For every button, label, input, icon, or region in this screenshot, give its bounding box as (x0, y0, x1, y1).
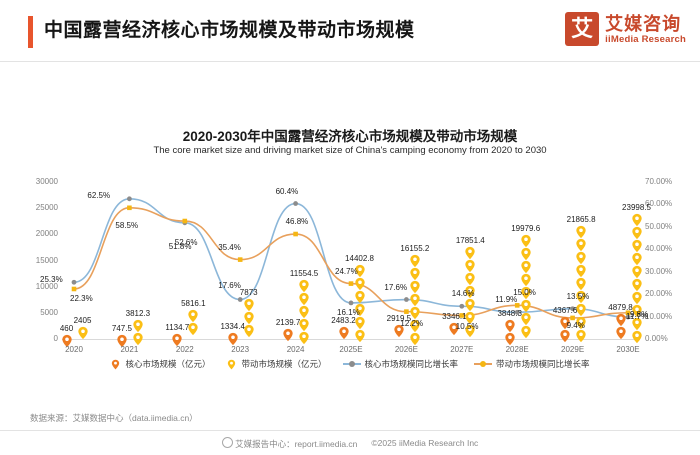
chart-legend: 核心市场规模（亿元）带动市场规模（亿元）核心市场规模同比增长率带动市场规模同比增… (0, 358, 700, 370)
pin-marker (131, 332, 145, 346)
legend-item[interactable]: 带动市场规模（亿元） (226, 358, 326, 370)
page-footer: 艾媒报告中心：report.iimedia.cn ©2025 iiMedia R… (0, 436, 700, 450)
x-axis-label: 2029E (546, 345, 600, 354)
y-axis-tick-right: 70.00% (645, 177, 691, 186)
bar-value-label: 3812.3 (126, 309, 150, 318)
x-axis-label: 2030E (601, 345, 655, 354)
x-axis-label: 2022 (158, 345, 212, 354)
growth-rate-label: 17.6% (218, 281, 241, 290)
pin-marker (463, 272, 477, 286)
pin-marker (574, 225, 588, 239)
brand-logo: 艾 艾媒咨询 iiMedia Research (565, 12, 686, 46)
pin-marker (297, 279, 311, 293)
legend-label: 带动市场规模同比增长率 (496, 358, 590, 370)
pin-marker (297, 292, 311, 306)
y-axis-tick-left: 30000 (12, 177, 58, 186)
y-axis-tick-left: 20000 (12, 229, 58, 238)
pin-marker (463, 259, 477, 273)
bar-value-label: 16155.2 (400, 244, 429, 253)
bar-column[interactable]: 2139.7 (281, 328, 296, 339)
bar-value-label: 2405 (74, 316, 92, 325)
bar-column[interactable]: 3848.3 (502, 319, 517, 339)
pin-marker (353, 316, 367, 330)
bar-column[interactable]: 1334.4 (225, 332, 240, 339)
x-axis-label: 2027E (435, 345, 489, 354)
pin-marker (630, 226, 644, 240)
chart-plot-area: 0500010000150002000025000300000.00%10.00… (0, 170, 700, 345)
footer-divider (0, 430, 700, 431)
pin-marker (519, 312, 533, 326)
pin-marker (353, 290, 367, 304)
legend-item[interactable]: 带动市场规模同比增长率 (474, 358, 590, 370)
globe-icon (222, 437, 233, 448)
logo-name-en: iiMedia Research (605, 34, 686, 45)
bar-value-label: 460 (60, 324, 73, 333)
growth-point-marker (127, 196, 132, 201)
pin-marker (281, 328, 295, 342)
bar-column[interactable]: 3812.3 (130, 319, 145, 339)
legend-line-icon (343, 363, 361, 365)
bar-column[interactable]: 5816.1 (186, 309, 201, 339)
pin-marker (614, 326, 628, 340)
bar-column[interactable]: 460 (59, 334, 74, 339)
growth-rate-label: 24.7% (335, 267, 358, 276)
pin-marker (630, 278, 644, 292)
growth-rate-label: 14.6% (452, 289, 475, 298)
pin-marker (630, 291, 644, 305)
y-axis-tick-right: 30.00% (645, 267, 691, 276)
y-axis-tick-right: 50.00% (645, 222, 691, 231)
pin-marker (630, 239, 644, 253)
growth-rate-label: 35.4% (218, 243, 241, 252)
x-axis-label: 2020 (47, 345, 101, 354)
pin-marker (519, 260, 533, 274)
growth-point-marker (127, 205, 132, 210)
bar-column[interactable]: 747.5 (114, 334, 129, 339)
pin-marker (76, 326, 90, 340)
growth-point-marker (183, 219, 188, 224)
pin-marker (297, 305, 311, 319)
legend-label: 带动市场规模（亿元） (241, 358, 326, 370)
growth-point-marker (238, 257, 243, 262)
x-axis-label: 2026E (379, 345, 433, 354)
growth-rate-label: 62.5% (87, 191, 110, 200)
growth-point-marker (293, 232, 298, 237)
pin-marker (242, 311, 256, 325)
bar-value-label: 747.5 (112, 324, 132, 333)
growth-rate-label: 52.6% (175, 238, 198, 247)
pin-marker (408, 267, 422, 281)
growth-rate-label: 25.3% (40, 275, 63, 284)
chart-title: 2020-2030年中国露营经济核心市场规模及带动市场规模 (0, 125, 700, 145)
logo-text: 艾媒咨询 iiMedia Research (605, 14, 686, 45)
bar-column[interactable]: 2405 (75, 326, 90, 339)
pin-marker (186, 309, 200, 323)
pin-marker (558, 329, 572, 343)
bar-column[interactable]: 11554.5 (297, 279, 312, 339)
growth-point-marker (72, 287, 77, 292)
x-axis-label: 2021 (102, 345, 156, 354)
growth-rate-label: 46.8% (286, 217, 309, 226)
pin-marker (353, 329, 367, 343)
pin-marker (519, 273, 533, 287)
growth-rate-label: 9.4% (567, 321, 585, 330)
bar-column[interactable]: 19979.6 (518, 234, 533, 339)
y-axis-tick-left: 15000 (12, 256, 58, 265)
pin-marker (297, 331, 311, 345)
growth-rate-label: 22.3% (70, 294, 93, 303)
pin-marker (503, 319, 517, 333)
pin-marker (242, 324, 256, 338)
pin-marker (519, 234, 533, 248)
x-axis-label: 2023 (213, 345, 267, 354)
chart-subtitle: The core market size and driving market … (0, 145, 700, 156)
legend-item[interactable]: 核心市场规模（亿元） (110, 358, 210, 370)
y-axis-tick-left: 25000 (12, 203, 58, 212)
pin-marker (463, 298, 477, 312)
growth-point-marker (72, 280, 77, 285)
bar-value-label: 5816.1 (181, 299, 205, 308)
report-center: 艾媒报告中心：report.iimedia.cn (222, 436, 358, 450)
x-axis-label: 2028E (490, 345, 544, 354)
pin-marker (630, 252, 644, 266)
page-title: 中国露营经济核心市场规模及带动市场规模 (44, 16, 415, 46)
pin-marker (574, 277, 588, 291)
pin-marker (242, 298, 256, 312)
growth-rate-label: 10.5% (456, 322, 479, 331)
data-source: 数据来源：艾媒数据中心（data.iimedia.cn） (30, 412, 198, 424)
copyright-label: ©2025 iiMedia Research Inc (371, 438, 478, 448)
pin-marker (226, 332, 240, 346)
pin-marker (337, 326, 351, 340)
bar-column[interactable]: 1134.7 (170, 333, 185, 339)
bar-value-label: 23998.5 (622, 203, 651, 212)
legend-label: 核心市场规模同比增长率 (365, 358, 459, 370)
pin-marker (574, 329, 588, 343)
y-axis-tick-left: 0 (12, 334, 58, 343)
bar-column[interactable]: 2483.2 (336, 326, 351, 339)
growth-rate-label: 16.1% (337, 308, 360, 317)
pin-marker (353, 277, 367, 291)
growth-rate-label: 13.5% (567, 292, 590, 301)
page-header: 中国露营经济核心市场规模及带动市场规模 艾 艾媒咨询 iiMedia Resea… (0, 0, 700, 62)
pin-marker (630, 265, 644, 279)
pin-marker (630, 213, 644, 227)
growth-point-marker (293, 201, 298, 206)
legend-label: 核心市场规模（亿元） (125, 358, 210, 370)
growth-rate-label: 15.0% (513, 288, 536, 297)
legend-line-icon (474, 363, 492, 365)
growth-rate-label: 12.2% (400, 319, 423, 328)
pin-marker (574, 238, 588, 252)
pin-marker (408, 280, 422, 294)
y-axis-tick-right: 40.00% (645, 244, 691, 253)
pin-marker (630, 330, 644, 344)
pin-marker (297, 318, 311, 332)
bar-value-label: 19979.6 (511, 224, 540, 233)
y-axis-tick-right: 0.00% (645, 334, 691, 343)
legend-pin-icon (110, 359, 121, 370)
title-accent-bar (28, 16, 33, 48)
bar-value-label: 14402.8 (345, 254, 374, 263)
pin-marker (131, 319, 145, 333)
x-axis-label: 2024 (269, 345, 323, 354)
legend-pin-icon (226, 359, 237, 370)
growth-rate-label: 17.6% (384, 283, 407, 292)
header-divider (0, 61, 700, 62)
bar-value-label: 21865.8 (567, 215, 596, 224)
pin-marker (503, 332, 517, 346)
growth-rate-label: 60.4% (276, 187, 299, 196)
x-axis-label: 2025E (324, 345, 378, 354)
y-axis-tick-right: 20.00% (645, 289, 691, 298)
report-center-label: 艾媒报告中心：report.iimedia.cn (235, 439, 357, 449)
growth-rate-label: 11.7% (626, 312, 648, 321)
bar-column[interactable]: 7873 (241, 298, 256, 339)
logo-name-cn: 艾媒咨询 (605, 14, 686, 34)
pin-marker (519, 325, 533, 339)
bar-value-label: 7873 (240, 288, 258, 297)
pin-marker (574, 264, 588, 278)
pin-marker (186, 322, 200, 336)
y-axis-tick-right: 60.00% (645, 199, 691, 208)
logo-mark-icon: 艾 (565, 12, 599, 46)
pin-marker (463, 246, 477, 260)
pin-marker (574, 251, 588, 265)
y-axis-tick-right: 10.00% (645, 312, 691, 321)
bar-value-label: 17851.4 (456, 236, 485, 245)
pin-marker (519, 247, 533, 261)
bar-value-label: 11554.5 (290, 269, 318, 278)
legend-item[interactable]: 核心市场规模同比增长率 (343, 358, 459, 370)
pin-marker (519, 299, 533, 313)
pin-marker (408, 254, 422, 268)
pin-marker (408, 293, 422, 307)
y-axis-tick-left: 5000 (12, 308, 58, 317)
growth-rate-label: 58.5% (115, 221, 138, 230)
pin-marker (574, 303, 588, 317)
